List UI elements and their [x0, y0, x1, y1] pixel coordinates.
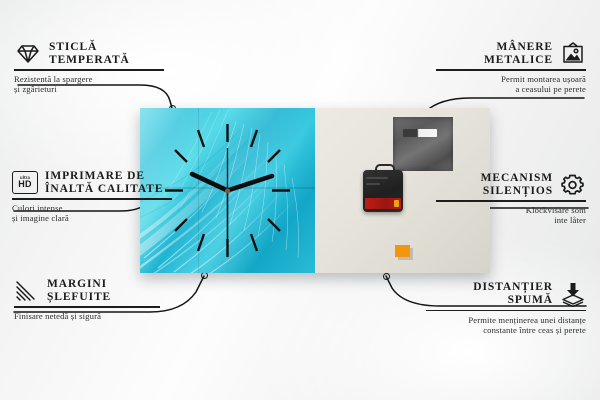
feature-subtitle: Finisare netedă și sigură: [14, 311, 160, 321]
battery: [365, 198, 401, 209]
feature-silent-mechanism: MECANISM SILENȚIOS Klockvisare som inte …: [436, 172, 586, 226]
endpoint-dot-foam-spacer: [383, 273, 390, 280]
foam-spacer-arrow-icon: [560, 281, 586, 307]
feature-title: STICLĂ TEMPERATĂ: [49, 41, 130, 66]
mechanism-detail-line: [366, 177, 388, 179]
feature-subtitle: Permite menținerea unei distanțe constan…: [426, 315, 586, 336]
feature-title: MARGINI ȘLEFUITE: [47, 278, 111, 303]
feature-subtitle: Klockvisare som inte låter: [436, 205, 586, 226]
feature-subtitle: Rezistentă la spargere și zgârieturi: [14, 74, 164, 95]
feature-subtitle: Permit montarea ușoară a ceasului pe per…: [436, 74, 586, 95]
hour-hand: [228, 176, 273, 191]
feature-title: MÂNERE METALICE: [484, 41, 553, 66]
feature-divider: [426, 310, 586, 311]
foam-spacer-square: [395, 245, 410, 257]
endpoint-dot-polished-edges: [201, 272, 208, 279]
feature-metal-hangers: MÂNERE METALICE Permit montarea ușoară a…: [436, 41, 586, 95]
feature-tempered-glass: STICLĂ TEMPERATĂ Rezistentă la spargere …: [14, 41, 164, 95]
diamond-icon: [14, 43, 42, 65]
feature-foam-spacer: DISTANȚIER SPUMĂ Permite menținerea unei…: [426, 281, 586, 336]
gear-icon: [560, 173, 586, 197]
mechanism-detail-line-2: [366, 183, 380, 185]
feature-print-quality: ultra HD IMPRIMARE DE ÎNALTĂ CALITATE Cu…: [12, 170, 172, 224]
feature-title: MECANISM SILENȚIOS: [481, 172, 553, 197]
clock-mechanism: [363, 170, 403, 212]
metal-hanger-plate: [393, 117, 453, 171]
mechanism-hang-loop: [375, 164, 395, 175]
infographic-stage: STICLĂ TEMPERATĂ Rezistentă la spargere …: [0, 0, 600, 400]
feature-divider: [436, 69, 586, 70]
picture-frame-hanger-icon: [560, 42, 586, 66]
feature-divider: [14, 69, 164, 70]
hanger-slot: [403, 129, 437, 137]
polished-edge-icon: [14, 280, 40, 302]
feature-divider: [14, 306, 160, 307]
minute-hand: [192, 174, 228, 191]
ultra-hd-badge-icon: ultra HD: [12, 171, 38, 194]
clock-center-cap: [225, 188, 230, 193]
feature-divider: [436, 200, 586, 201]
feature-subtitle: Culori intense și imagine clară: [12, 203, 172, 224]
feature-title: DISTANȚIER SPUMĂ: [473, 281, 553, 306]
clock-hands: [192, 148, 272, 248]
feature-title: IMPRIMARE DE ÎNALTĂ CALITATE: [45, 170, 163, 195]
badge-hd-text: HD: [18, 180, 32, 189]
feature-divider: [12, 198, 172, 199]
feature-polished-edges: MARGINI ȘLEFUITE Finisare netedă și sigu…: [14, 278, 160, 321]
